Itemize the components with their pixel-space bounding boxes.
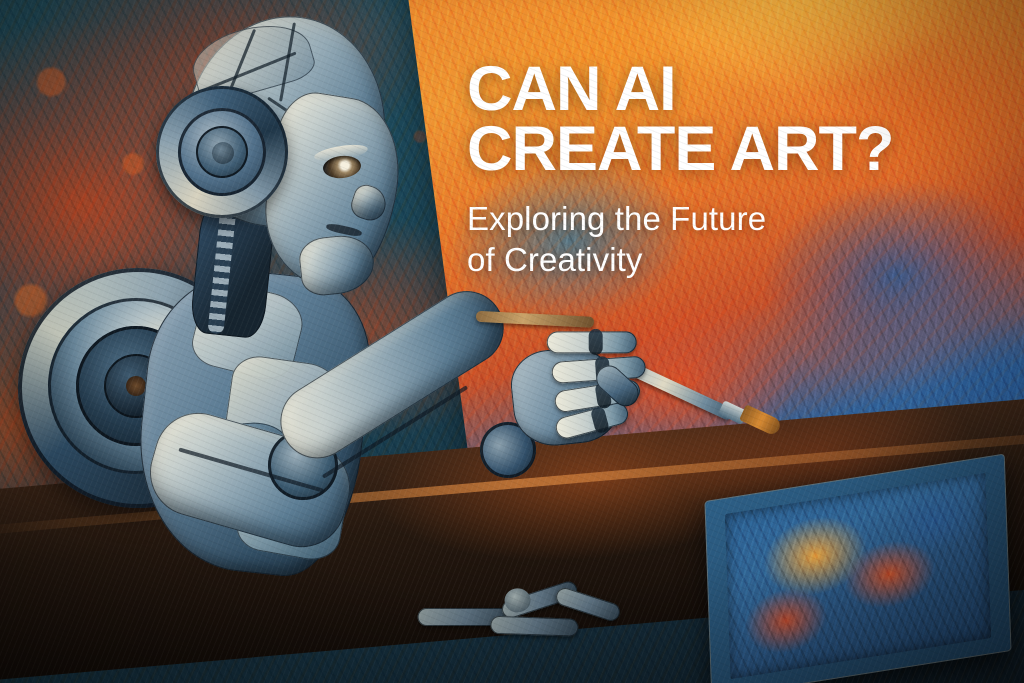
poster-image: CAN AI CREATE ART? Exploring the Future …	[0, 0, 1024, 683]
robot-ear-hub	[212, 142, 234, 164]
tablet-screen-artwork	[725, 473, 992, 679]
title-line-2: CREATE ART?	[467, 120, 1007, 180]
subtitle-line-1: Exploring the Future	[467, 198, 1007, 240]
headline-block: CAN AI CREATE ART? Exploring the Future …	[467, 60, 1007, 281]
subtitle-line-2: of Creativity	[467, 239, 1007, 281]
page-subtitle: Exploring the Future of Creativity	[467, 198, 1007, 281]
robot-shoulder-core	[126, 376, 146, 396]
robot-painting-hand	[491, 309, 686, 477]
robot-resting-finger	[490, 616, 579, 637]
title-line-1: CAN AI	[467, 60, 1007, 120]
robot-resting-hand	[416, 579, 630, 663]
page-title: CAN AI CREATE ART?	[467, 60, 1007, 180]
robot-knuckle	[589, 329, 603, 355]
